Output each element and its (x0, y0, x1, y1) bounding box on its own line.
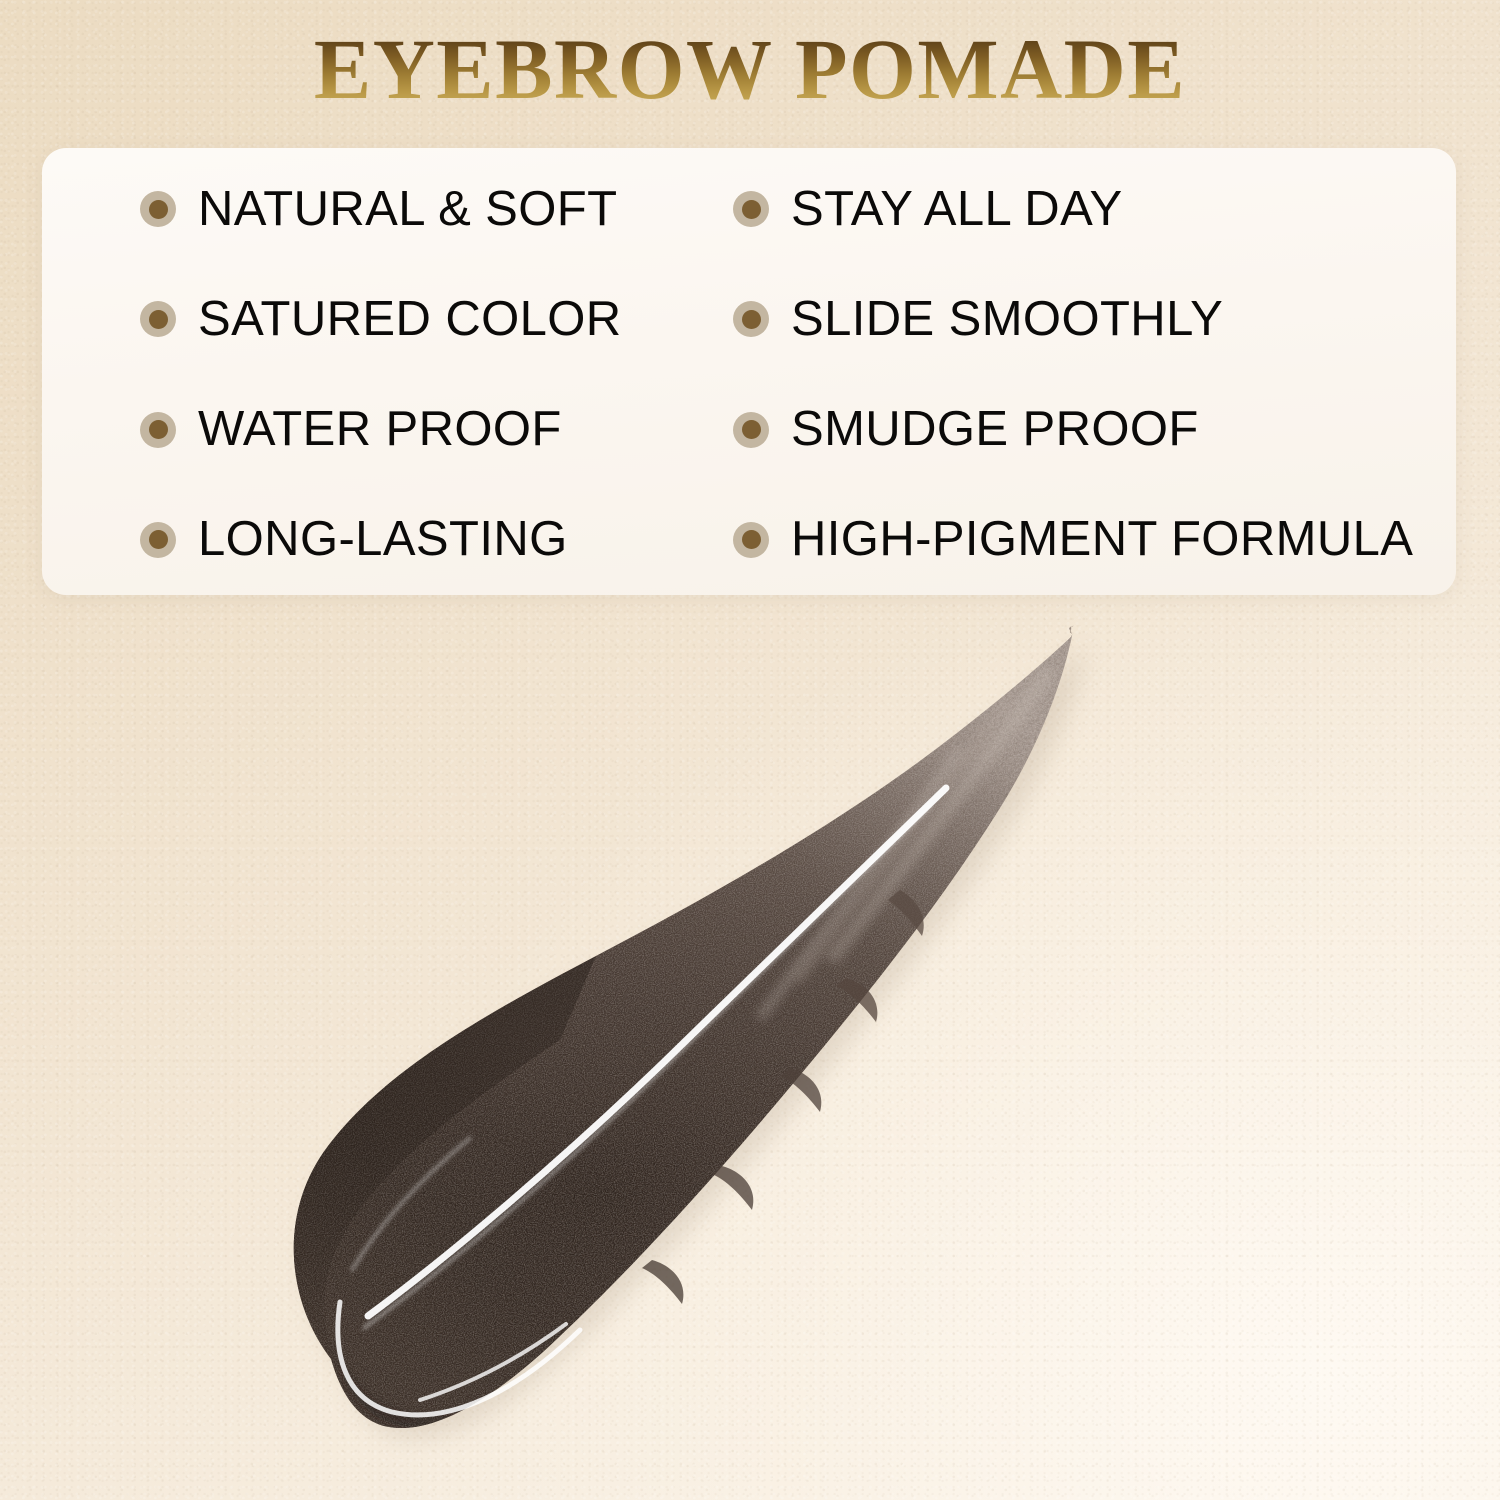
dot-bullet-icon (733, 522, 769, 558)
feature-label: NATURAL & SOFT (198, 185, 617, 234)
dot-bullet-icon (140, 301, 176, 337)
feature-item-satured-color: SATURED COLOR (42, 264, 733, 374)
dot-bullet-icon (733, 412, 769, 448)
feature-label: SMUDGE PROOF (791, 405, 1199, 454)
dot-bullet-icon (733, 301, 769, 337)
feature-item-smudge-proof: SMUDGE PROOF (733, 375, 1456, 485)
feature-item-stay-all-day: STAY ALL DAY (733, 154, 1456, 264)
dot-bullet-icon (140, 191, 176, 227)
feature-item-natural-soft: NATURAL & SOFT (42, 154, 733, 264)
swatch-shimmer-texture (0, 600, 1500, 1500)
feature-list-card: NATURAL & SOFT STAY ALL DAY SATURED COLO… (42, 148, 1456, 595)
pomade-swatch-smear (0, 600, 1500, 1500)
feature-label: HIGH-PIGMENT FORMULA (791, 515, 1413, 564)
feature-item-slide-smoothly: SLIDE SMOOTHLY (733, 264, 1456, 374)
dot-bullet-icon (733, 191, 769, 227)
feature-grid: NATURAL & SOFT STAY ALL DAY SATURED COLO… (42, 148, 1456, 595)
product-feature-graphic: EYEBROW POMADE NATURAL & SOFT STAY ALL D… (0, 0, 1500, 1500)
dot-bullet-icon (140, 522, 176, 558)
dot-bullet-icon (140, 412, 176, 448)
feature-item-high-pigment-formula: HIGH-PIGMENT FORMULA (733, 485, 1456, 595)
feature-label: STAY ALL DAY (791, 185, 1123, 234)
product-swatch-area (0, 600, 1500, 1500)
feature-item-long-lasting: LONG-LASTING (42, 485, 733, 595)
feature-label: SLIDE SMOOTHLY (791, 295, 1223, 344)
feature-label: LONG-LASTING (198, 515, 568, 564)
feature-label: SATURED COLOR (198, 295, 622, 344)
feature-item-water-proof: WATER PROOF (42, 375, 733, 485)
feature-label: WATER PROOF (198, 405, 562, 454)
page-title: EYEBROW POMADE (0, 26, 1500, 112)
